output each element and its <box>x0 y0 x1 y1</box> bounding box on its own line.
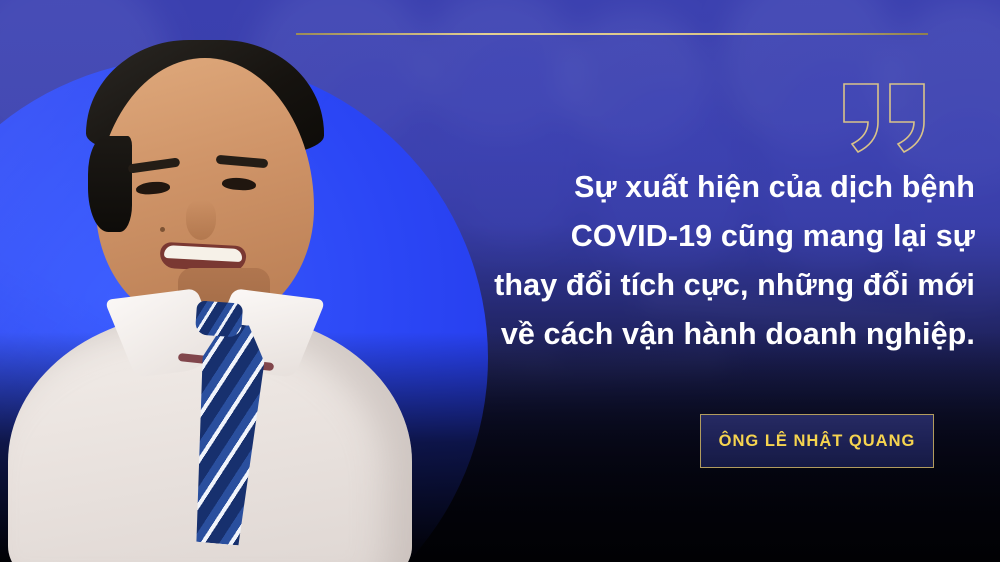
quote-text: Sự xuất hiện của dịch bệnh COVID-19 cũng… <box>430 163 975 359</box>
portrait-mole <box>160 227 165 232</box>
quote-line-4: về cách vận hành doanh nghiệp. <box>430 310 975 359</box>
quote-mark-icon <box>842 82 934 154</box>
quote-line-1: Sự xuất hiện của dịch bệnh <box>430 163 975 212</box>
quote-line-3: thay đổi tích cực, những đổi mới <box>430 261 975 310</box>
speaker-name-label: ÔNG LÊ NHẬT QUANG <box>719 432 916 451</box>
portrait-necktie-knot <box>195 300 243 337</box>
portrait-nose <box>186 200 216 240</box>
gold-divider-line <box>296 33 928 35</box>
portrait-teeth <box>164 245 243 262</box>
quote-card-graphic: Sự xuất hiện của dịch bệnh COVID-19 cũng… <box>0 0 1000 562</box>
speaker-name-badge: ÔNG LÊ NHẬT QUANG <box>700 414 934 468</box>
quote-line-2: COVID-19 cũng mang lại sự <box>430 212 975 261</box>
portrait-sideburn <box>88 136 132 232</box>
speaker-portrait <box>0 0 420 562</box>
